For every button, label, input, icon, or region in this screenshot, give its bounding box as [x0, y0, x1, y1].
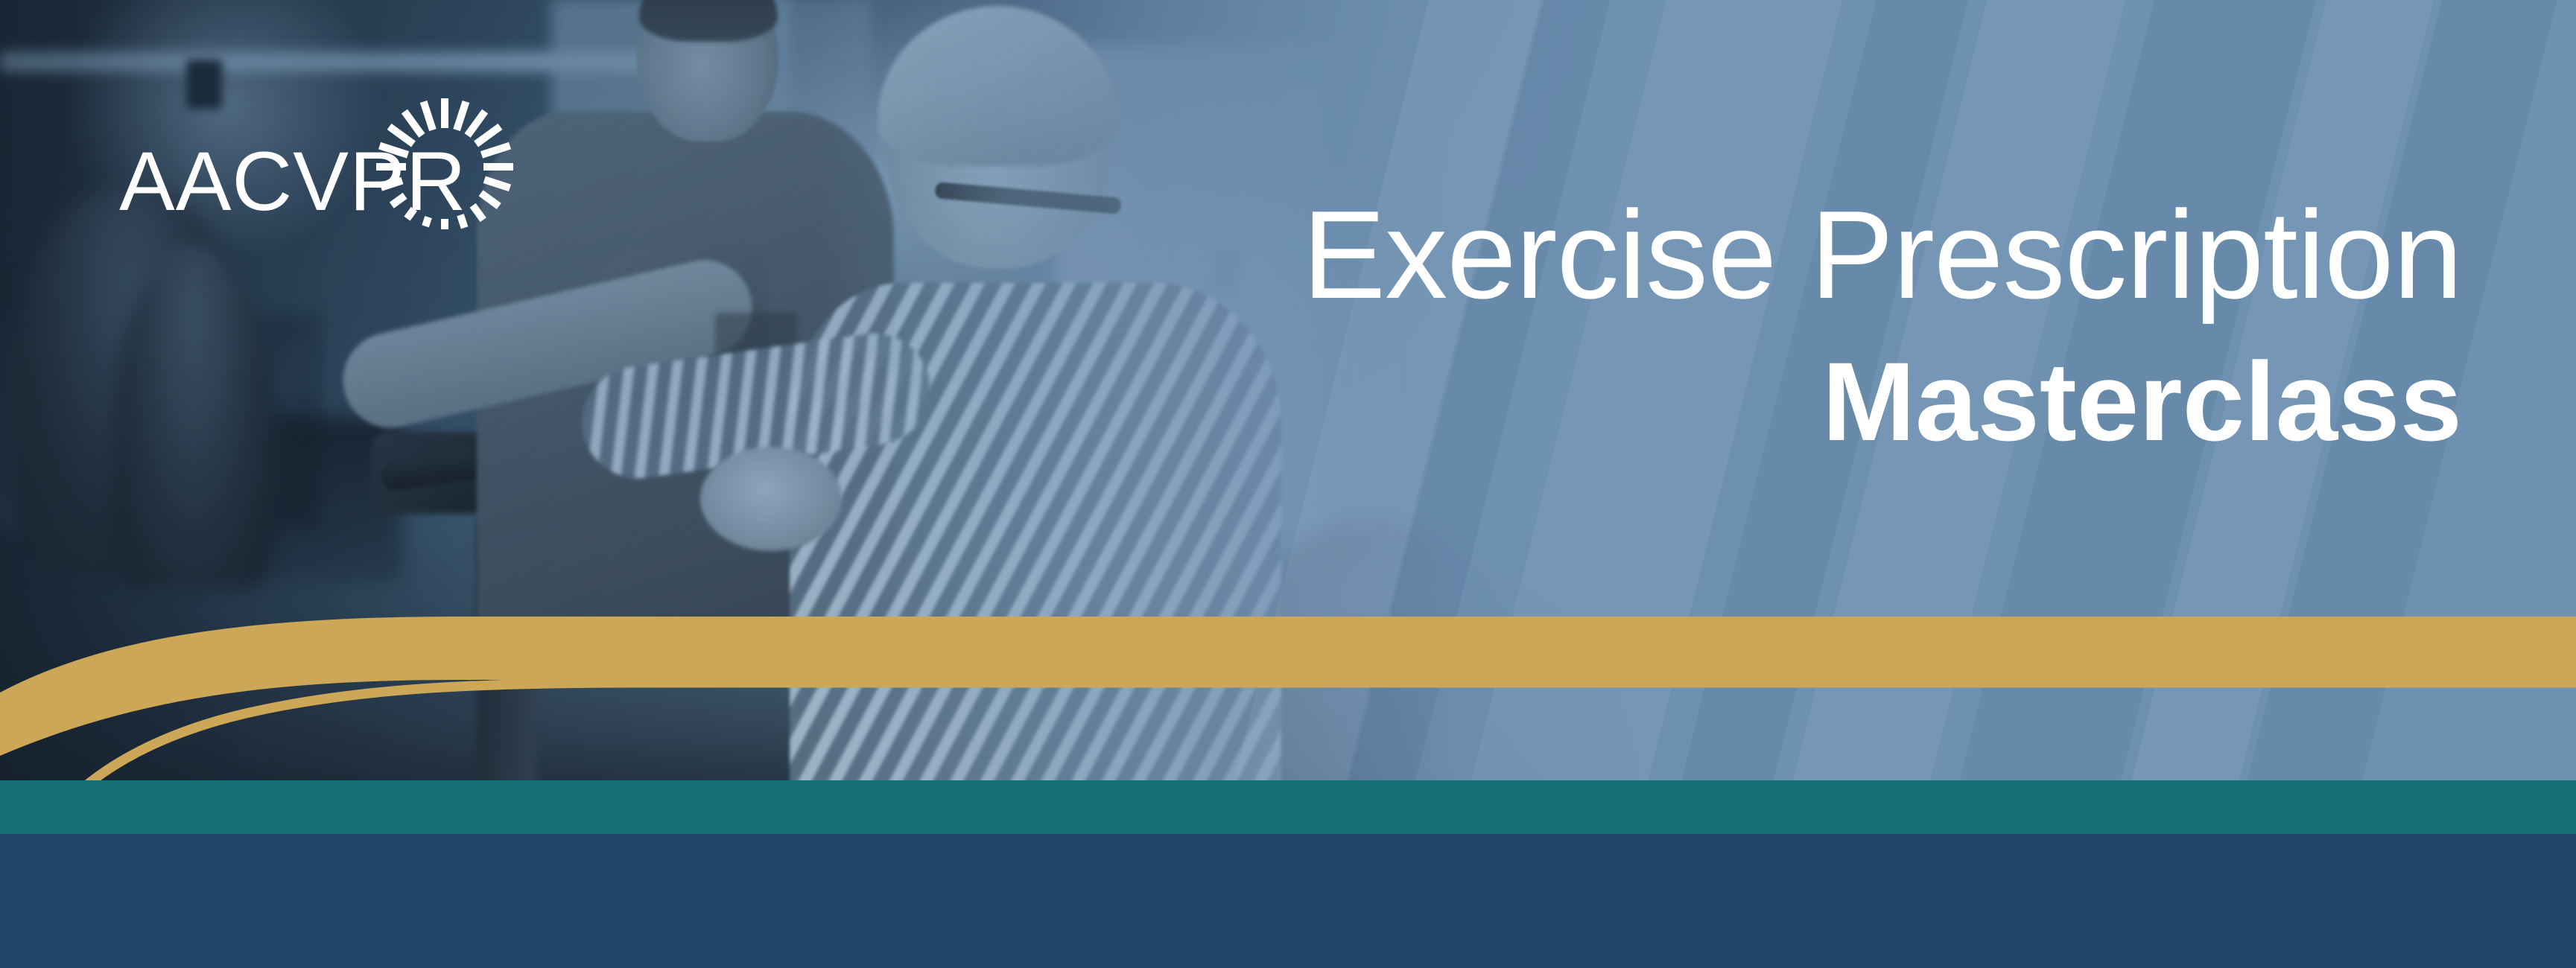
teal-brand-stripe: [0, 780, 2576, 834]
aacvpr-logo[interactable]: AACVPR: [119, 140, 507, 252]
headline-block: Exercise Prescription Masterclass: [1302, 192, 2462, 457]
headline-line-2: Masterclass: [1302, 346, 2462, 457]
navy-brand-stripe: [0, 834, 2576, 968]
promotional-banner: AACVPR: [0, 0, 2576, 968]
headline-line-1: Exercise Prescription: [1302, 192, 2462, 317]
sunburst-icon: [370, 92, 519, 241]
